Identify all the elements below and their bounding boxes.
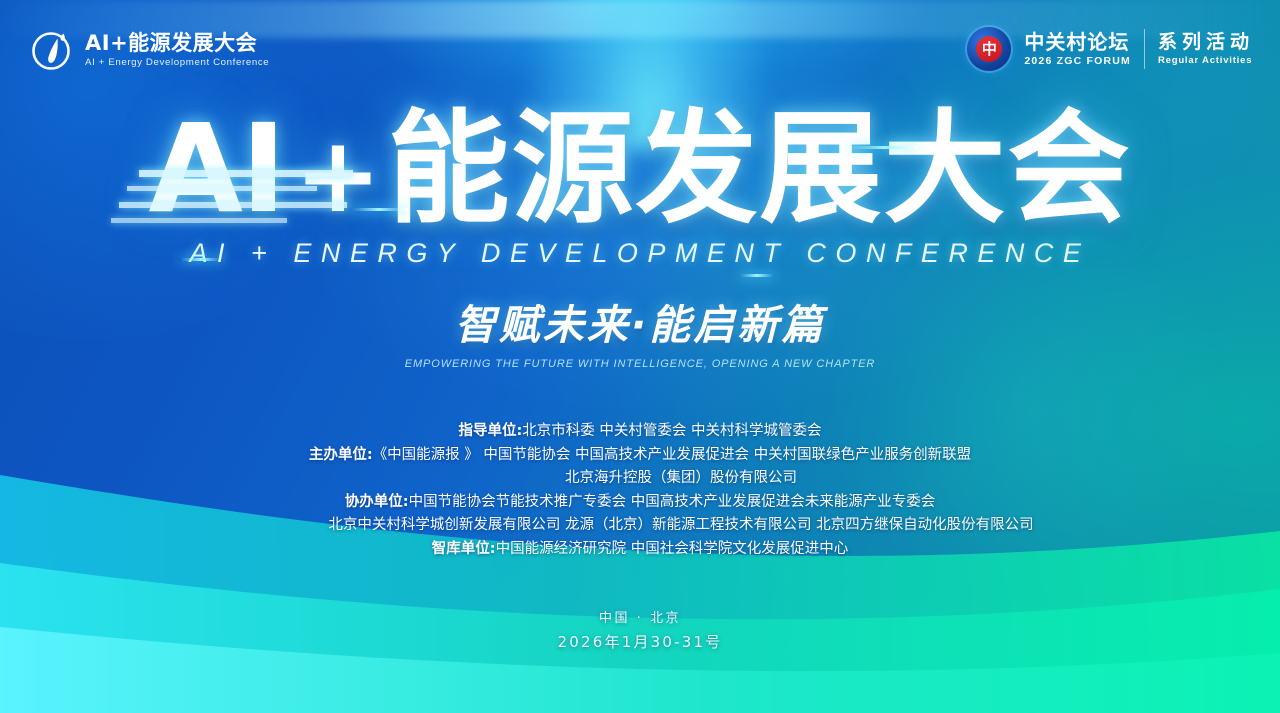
zgc-series-cn: 系列活动	[1158, 33, 1254, 52]
zgc-series-group: 系列活动 Regular Activities	[1158, 33, 1254, 66]
zgc-forum-cn: 中关村论坛	[1024, 32, 1131, 52]
footer-block: 中国 · 北京 2026年1月30-31号	[0, 608, 1280, 654]
main-title-english: AI + ENERGY DEVELOPMENT CONFERENCE	[0, 238, 1280, 269]
hero-section: AI +能源发展大会 AI + ENERGY DEVELOPMENT CONFE…	[0, 108, 1280, 370]
lens-flare-icon	[739, 274, 775, 277]
zgc-forum-en: 2026 ZGC FORUM	[1024, 56, 1131, 67]
organizer-label: 指导单位:	[458, 423, 522, 439]
zgc-badge-inner: 中	[976, 36, 1002, 62]
zgc-forum-title-group: 中关村论坛 2026 ZGC FORUM	[1024, 32, 1131, 67]
organizer-value: 中国能源经济研究院 中国社会科学院文化发展促进中心	[496, 541, 849, 557]
organizer-line: 北京中关村科学城创新发展有限公司 龙源（北京）新能源工程技术有限公司 北京四方继…	[0, 514, 1280, 538]
organizer-value: 北京中关村科学城创新发展有限公司 龙源（北京）新能源工程技术有限公司 北京四方继…	[328, 517, 1033, 533]
organizer-label: 主办单位:	[309, 447, 373, 463]
slogan-en: EMPOWERING THE FUTURE WITH INTELLIGENCE,…	[0, 358, 1280, 370]
organizer-value: 《中国能源报 》 中国节能协会 中国高技术产业发展促进会 中关村国联绿色产业服务…	[373, 447, 971, 463]
event-date: 2026年1月30-31号	[0, 631, 1280, 654]
slogan-cn: 智赋未来·能启新篇	[0, 291, 1280, 351]
logo-divider	[1144, 29, 1145, 69]
main-title-ai: AI	[149, 98, 291, 240]
organizer-line: 指导单位:北京市科委 中关村管委会 中关村科学城管委会	[0, 420, 1280, 444]
organizer-value: 北京市科委 中关村管委会 中关村科学城管委会	[522, 423, 821, 439]
organizer-line: 主办单位:《中国能源报 》 中国节能协会 中国高技术产业发展促进会 中关村国联绿…	[0, 444, 1280, 468]
zgc-forum-logo[interactable]: 中 中关村论坛 2026 ZGC FORUM 系列活动 Regular Acti…	[967, 27, 1254, 71]
organizer-label: 协办单位:	[345, 494, 409, 510]
organizers-block: 指导单位:北京市科委 中关村管委会 中关村科学城管委会 主办单位:《中国能源报 …	[0, 420, 1280, 561]
organizer-line: 智库单位:中国能源经济研究院 中国社会科学院文化发展促进中心	[0, 538, 1280, 562]
conference-logo-en: AI + Energy Development Conference	[85, 58, 269, 68]
event-location: 中国 · 北京	[0, 608, 1280, 629]
organizer-value: 中国节能协会节能技术推广专委会 中国高技术产业发展促进会未来能源产业专委会	[409, 494, 936, 510]
main-title-ai-wrap: AI	[149, 108, 291, 230]
main-title-cn: 能源发展大会	[387, 98, 1131, 240]
organizer-line: 协办单位:中国节能协会节能技术推广专委会 中国高技术产业发展促进会未来能源产业专…	[0, 491, 1280, 515]
conference-logo[interactable]: AI+能源发展大会 AI + Energy Development Confer…	[30, 26, 266, 72]
zgc-badge-glyph: 中	[982, 42, 997, 57]
zgc-forum-badge-icon: 中	[967, 27, 1011, 71]
conference-logo-text: AI+能源发展大会 AI + Energy Development Confer…	[85, 31, 266, 68]
leaf-droplet-logo-icon	[30, 26, 76, 72]
organizer-label: 智库单位:	[432, 541, 496, 557]
organizer-value: 北京海升控股（集团）股份有限公司	[565, 470, 797, 486]
organizer-line: 北京海升控股（集团）股份有限公司	[0, 467, 1280, 491]
main-title-plus: +	[290, 114, 387, 236]
zgc-series-en: Regular Activities	[1158, 56, 1254, 66]
main-title: AI +能源发展大会	[149, 108, 1132, 230]
conference-poster: AI+能源发展大会 AI + Energy Development Confer…	[0, 0, 1280, 713]
conference-logo-cn: AI+能源发展大会	[85, 33, 266, 54]
